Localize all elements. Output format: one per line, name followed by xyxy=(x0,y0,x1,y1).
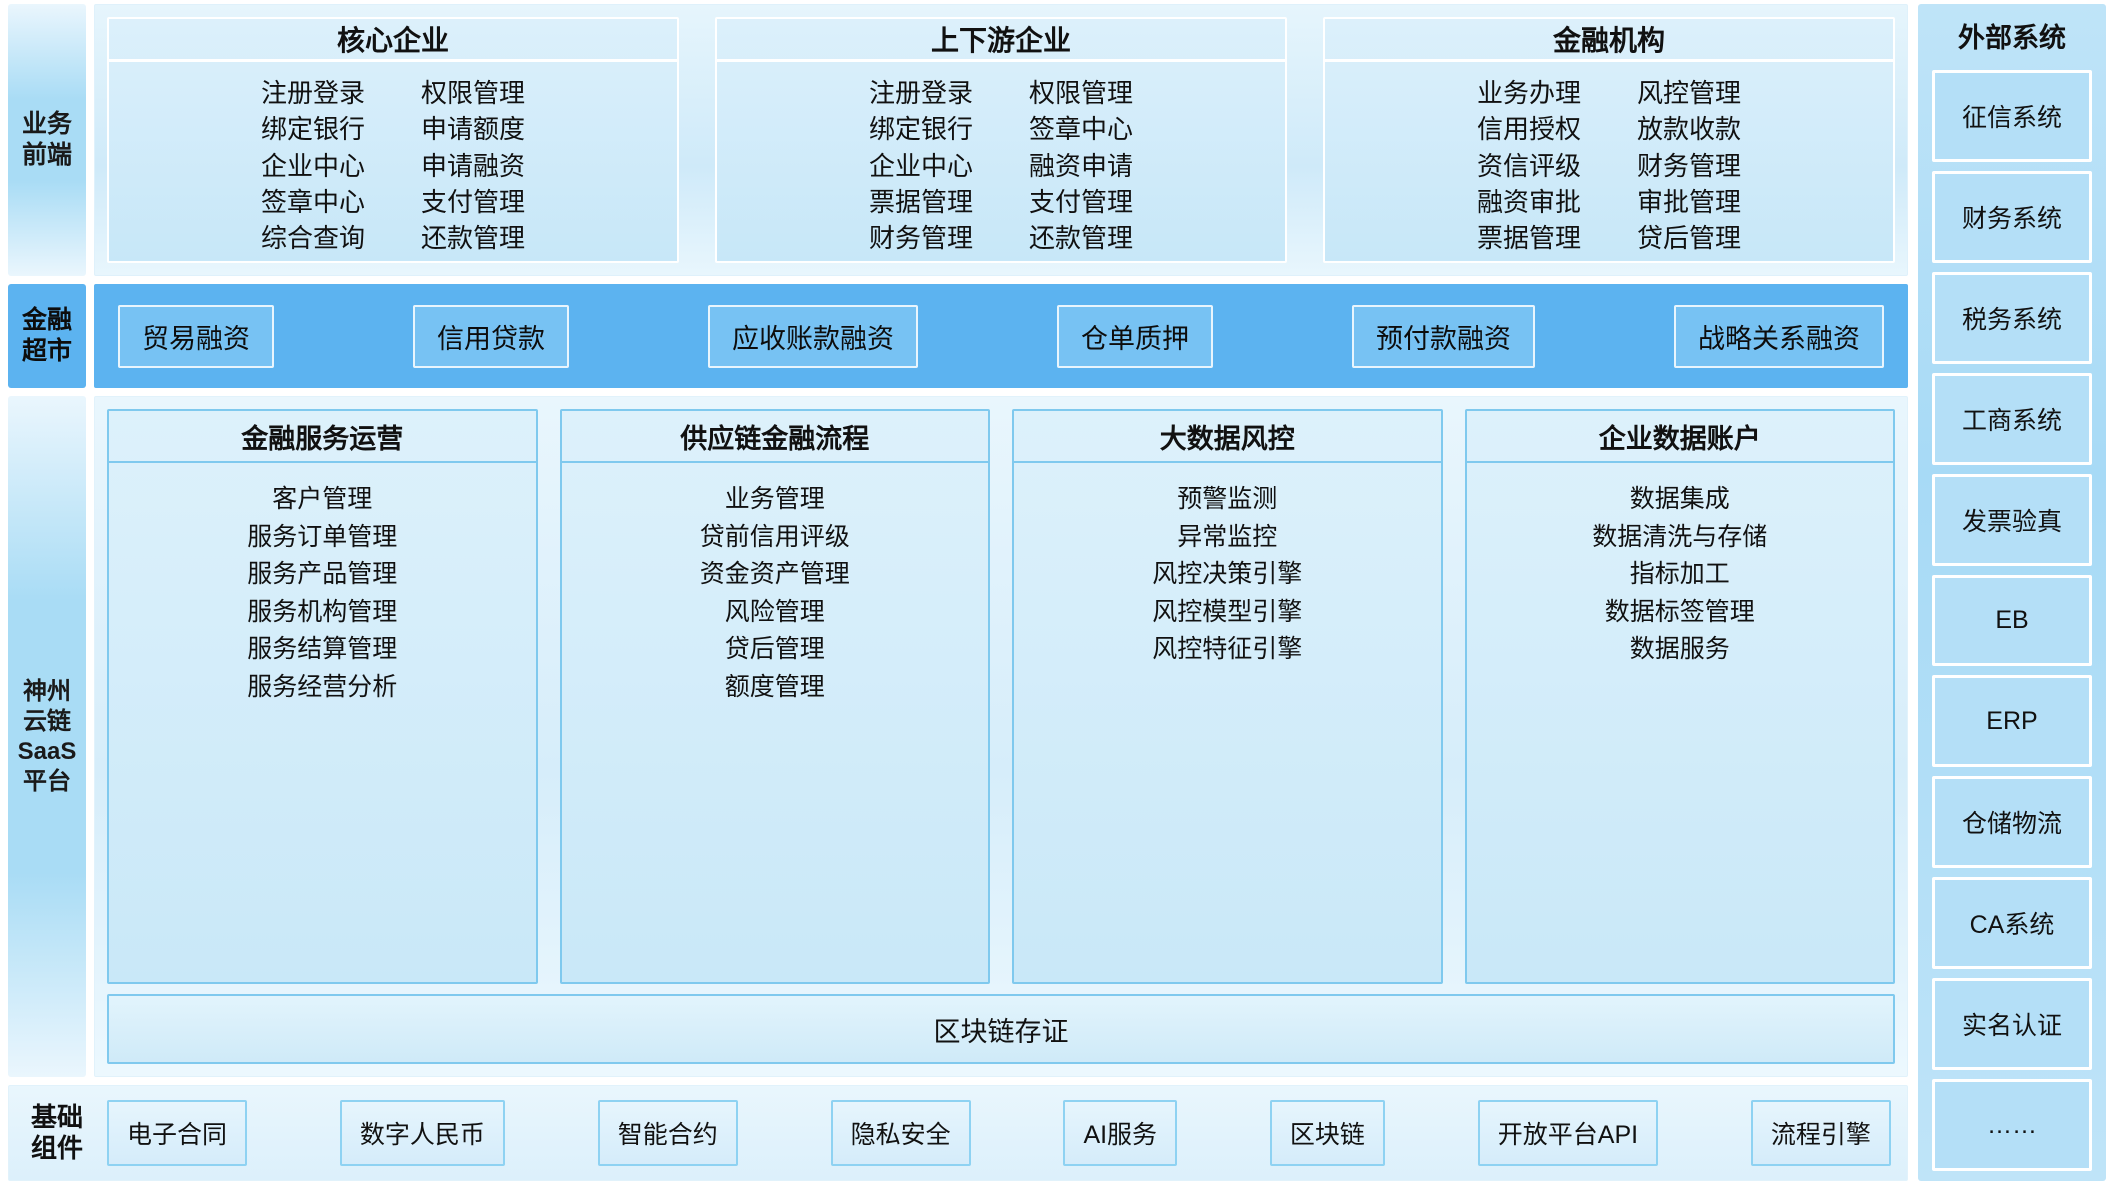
saas-platform-content: 金融服务运营 客户管理 服务订单管理 服务产品管理 服务机构管理 服务结算管理 … xyxy=(94,396,1908,1077)
card-item[interactable]: 支付管理 xyxy=(1029,185,1133,219)
external-system-item-ca[interactable]: CA系统 xyxy=(1932,877,2092,969)
card-column-right: 权限管理 签章中心 融资申请 支付管理 还款管理 xyxy=(1029,76,1133,256)
card-item[interactable]: 票据管理 xyxy=(869,185,973,219)
external-systems-title: 外部系统 xyxy=(1932,12,2092,61)
card-item[interactable]: 风控管理 xyxy=(1637,76,1741,110)
card-column-right: 风控管理 放款收款 财务管理 审批管理 贷后管理 xyxy=(1637,76,1741,256)
finance-product-chip[interactable]: 信用贷款 xyxy=(413,305,569,368)
external-system-item-more[interactable]: …… xyxy=(1932,1079,2092,1171)
card-item[interactable]: 资信评级 xyxy=(1477,149,1581,183)
card-item[interactable]: 还款管理 xyxy=(1029,221,1133,255)
saas-item[interactable]: 客户管理 xyxy=(272,483,372,516)
card-core-enterprise[interactable]: 核心企业 注册登录 绑定银行 企业中心 签章中心 综合查询 权限管理 申请额度 xyxy=(107,17,679,263)
saas-item[interactable]: 业务管理 xyxy=(725,483,825,516)
card-item[interactable]: 业务办理 xyxy=(1477,76,1581,110)
external-system-item-erp[interactable]: ERP xyxy=(1932,675,2092,767)
card-item[interactable]: 绑定银行 xyxy=(869,112,973,146)
base-components-content: 基础组件 电子合同 数字人民币 智能合约 隐私安全 AI服务 区块链 开放平台A… xyxy=(8,1085,1908,1181)
band-base-components: 基础组件 电子合同 数字人民币 智能合约 隐私安全 AI服务 区块链 开放平台A… xyxy=(8,1085,1908,1181)
base-component-chip[interactable]: 隐私安全 xyxy=(831,1100,971,1166)
band-financial-supermarket: 金融超市 贸易融资 信用贷款 应收账款融资 仓单质押 预付款融资 战略关系融资 xyxy=(8,284,1908,388)
card-body: 注册登录 绑定银行 企业中心 签章中心 综合查询 权限管理 申请额度 申请融资 … xyxy=(109,62,677,262)
base-component-chip[interactable]: 区块链 xyxy=(1270,1100,1385,1166)
saas-item[interactable]: 数据清洗与存储 xyxy=(1592,521,1767,554)
external-systems-panel: 外部系统 征信系统 财务系统 税务系统 工商系统 发票验真 EB ERP 仓储物… xyxy=(1918,4,2106,1181)
saas-card-title: 金融服务运营 xyxy=(109,411,536,463)
saas-item[interactable]: 服务订单管理 xyxy=(247,521,397,554)
card-item[interactable]: 注册登录 xyxy=(869,76,973,110)
external-system-item-eb[interactable]: EB xyxy=(1932,575,2092,667)
card-column-right: 权限管理 申请额度 申请融资 支付管理 还款管理 xyxy=(421,76,525,256)
saas-item[interactable]: 指标加工 xyxy=(1630,558,1730,591)
finance-product-chip[interactable]: 贸易融资 xyxy=(118,305,274,368)
card-item[interactable]: 财务管理 xyxy=(869,221,973,255)
saas-item[interactable]: 数据服务 xyxy=(1630,633,1730,666)
card-item[interactable]: 企业中心 xyxy=(869,149,973,183)
main-column: 业务前端 核心企业 注册登录 绑定银行 企业中心 签章中心 综合查询 权限管理 xyxy=(8,4,1908,1181)
band-label-financial-supermarket: 金融超市 xyxy=(8,284,86,388)
saas-item[interactable]: 服务产品管理 xyxy=(247,558,397,591)
base-component-chip[interactable]: 流程引擎 xyxy=(1751,1100,1891,1166)
saas-card-body: 预警监测 异常监控 风控决策引擎 风控模型引擎 风控特征引擎 xyxy=(1014,463,1441,982)
saas-item[interactable]: 数据集成 xyxy=(1630,483,1730,516)
finance-product-chip[interactable]: 预付款融资 xyxy=(1352,305,1535,368)
band-label-business-frontend: 业务前端 xyxy=(8,4,86,276)
saas-card-supply-chain-finance-process[interactable]: 供应链金融流程 业务管理 贷前信用评级 资金资产管理 风险管理 贷后管理 额度管… xyxy=(560,409,991,984)
base-component-chip[interactable]: 数字人民币 xyxy=(340,1100,505,1166)
card-column-left: 注册登录 绑定银行 企业中心 签章中心 综合查询 xyxy=(261,76,365,256)
card-item[interactable]: 融资审批 xyxy=(1477,185,1581,219)
card-item[interactable]: 信用授权 xyxy=(1477,112,1581,146)
external-system-item-invoice-verification[interactable]: 发票验真 xyxy=(1932,474,2092,566)
card-item[interactable]: 贷后管理 xyxy=(1637,221,1741,255)
card-item[interactable]: 申请融资 xyxy=(421,149,525,183)
card-upstream-downstream-enterprise[interactable]: 上下游企业 注册登录 绑定银行 企业中心 票据管理 财务管理 权限管理 签章中心 xyxy=(715,17,1287,263)
card-body: 注册登录 绑定银行 企业中心 票据管理 财务管理 权限管理 签章中心 融资申请 … xyxy=(717,62,1285,262)
card-item[interactable]: 财务管理 xyxy=(1637,149,1741,183)
saas-item[interactable]: 预警监测 xyxy=(1177,483,1277,516)
external-system-item-real-name-auth[interactable]: 实名认证 xyxy=(1932,978,2092,1070)
base-component-chip[interactable]: 开放平台API xyxy=(1478,1100,1658,1166)
band-label-saas-platform: 神州云链SaaS平台 xyxy=(8,396,86,1077)
saas-item[interactable]: 服务经营分析 xyxy=(247,671,397,704)
external-system-item-finance[interactable]: 财务系统 xyxy=(1932,171,2092,263)
base-component-chip[interactable]: 智能合约 xyxy=(598,1100,738,1166)
card-column-left: 业务办理 信用授权 资信评级 融资审批 票据管理 xyxy=(1477,76,1581,256)
card-item[interactable]: 还款管理 xyxy=(421,221,525,255)
saas-item[interactable]: 额度管理 xyxy=(725,671,825,704)
card-financial-institution[interactable]: 金融机构 业务办理 信用授权 资信评级 融资审批 票据管理 风控管理 放款收款 xyxy=(1323,17,1895,263)
card-title: 金融机构 xyxy=(1325,19,1893,62)
card-column-left: 注册登录 绑定银行 企业中心 票据管理 财务管理 xyxy=(869,76,973,256)
base-component-chips: 电子合同 数字人民币 智能合约 隐私安全 AI服务 区块链 开放平台API 流程… xyxy=(107,1100,1891,1166)
card-item[interactable]: 放款收款 xyxy=(1637,112,1741,146)
external-system-item-business-registration[interactable]: 工商系统 xyxy=(1932,373,2092,465)
base-component-chip[interactable]: 电子合同 xyxy=(107,1100,247,1166)
card-item[interactable]: 融资申请 xyxy=(1029,149,1133,183)
saas-item[interactable]: 贷前信用评级 xyxy=(700,521,850,554)
saas-card-body: 数据集成 数据清洗与存储 指标加工 数据标签管理 数据服务 xyxy=(1467,463,1894,982)
saas-card-big-data-risk-control[interactable]: 大数据风控 预警监测 异常监控 风控决策引擎 风控模型引擎 风控特征引擎 xyxy=(1012,409,1443,984)
saas-item[interactable]: 风险管理 xyxy=(725,596,825,629)
external-system-item-credit[interactable]: 征信系统 xyxy=(1932,70,2092,162)
saas-card-title: 企业数据账户 xyxy=(1467,411,1894,463)
saas-item[interactable]: 贷后管理 xyxy=(725,633,825,666)
base-component-chip[interactable]: AI服务 xyxy=(1063,1100,1177,1166)
saas-item[interactable]: 风控决策引擎 xyxy=(1152,558,1302,591)
band-business-frontend: 业务前端 核心企业 注册登录 绑定银行 企业中心 签章中心 综合查询 权限管理 xyxy=(8,4,1908,276)
card-item[interactable]: 申请额度 xyxy=(421,112,525,146)
card-item[interactable]: 签章中心 xyxy=(261,185,365,219)
architecture-diagram: 业务前端 核心企业 注册登录 绑定银行 企业中心 签章中心 综合查询 权限管理 xyxy=(0,0,2114,1187)
card-item[interactable]: 绑定银行 xyxy=(261,112,365,146)
saas-card-body: 业务管理 贷前信用评级 资金资产管理 风险管理 贷后管理 额度管理 xyxy=(562,463,989,982)
saas-columns: 金融服务运营 客户管理 服务订单管理 服务产品管理 服务机构管理 服务结算管理 … xyxy=(107,409,1895,984)
band-label-base-components: 基础组件 xyxy=(25,1102,89,1164)
card-item[interactable]: 票据管理 xyxy=(1477,221,1581,255)
card-item[interactable]: 注册登录 xyxy=(261,76,365,110)
saas-item[interactable]: 风控模型引擎 xyxy=(1152,596,1302,629)
card-title: 上下游企业 xyxy=(717,19,1285,62)
blockchain-evidence-bar[interactable]: 区块链存证 xyxy=(107,994,1895,1064)
card-item[interactable]: 综合查询 xyxy=(261,221,365,255)
saas-card-financial-service-operation[interactable]: 金融服务运营 客户管理 服务订单管理 服务产品管理 服务机构管理 服务结算管理 … xyxy=(107,409,538,984)
card-item[interactable]: 权限管理 xyxy=(1029,76,1133,110)
finance-product-chip[interactable]: 应收账款融资 xyxy=(708,305,918,368)
business-frontend-cards: 核心企业 注册登录 绑定银行 企业中心 签章中心 综合查询 权限管理 申请额度 xyxy=(94,4,1908,276)
card-item[interactable]: 权限管理 xyxy=(421,76,525,110)
card-item[interactable]: 支付管理 xyxy=(421,185,525,219)
card-item[interactable]: 审批管理 xyxy=(1637,185,1741,219)
finance-product-chip[interactable]: 仓单质押 xyxy=(1057,305,1213,368)
saas-item[interactable]: 数据标签管理 xyxy=(1605,596,1755,629)
saas-card-enterprise-data-account[interactable]: 企业数据账户 数据集成 数据清洗与存储 指标加工 数据标签管理 数据服务 xyxy=(1465,409,1896,984)
card-item[interactable]: 企业中心 xyxy=(261,149,365,183)
saas-item[interactable]: 服务结算管理 xyxy=(247,633,397,666)
external-system-item-warehouse-logistics[interactable]: 仓储物流 xyxy=(1932,776,2092,868)
band-saas-platform: 神州云链SaaS平台 金融服务运营 客户管理 服务订单管理 服务产品管理 服务机… xyxy=(8,396,1908,1077)
card-body: 业务办理 信用授权 资信评级 融资审批 票据管理 风控管理 放款收款 财务管理 … xyxy=(1325,62,1893,262)
card-item[interactable]: 签章中心 xyxy=(1029,112,1133,146)
saas-card-body: 客户管理 服务订单管理 服务产品管理 服务机构管理 服务结算管理 服务经营分析 xyxy=(109,463,536,982)
card-title: 核心企业 xyxy=(109,19,677,62)
saas-card-title: 大数据风控 xyxy=(1014,411,1441,463)
saas-card-title: 供应链金融流程 xyxy=(562,411,989,463)
saas-item[interactable]: 异常监控 xyxy=(1177,521,1277,554)
saas-item[interactable]: 风控特征引擎 xyxy=(1152,633,1302,666)
external-system-item-tax[interactable]: 税务系统 xyxy=(1932,272,2092,364)
saas-item[interactable]: 资金资产管理 xyxy=(700,558,850,591)
finance-product-chip[interactable]: 战略关系融资 xyxy=(1674,305,1884,368)
saas-item[interactable]: 服务机构管理 xyxy=(247,596,397,629)
financial-supermarket-chips: 贸易融资 信用贷款 应收账款融资 仓单质押 预付款融资 战略关系融资 xyxy=(94,284,1908,388)
